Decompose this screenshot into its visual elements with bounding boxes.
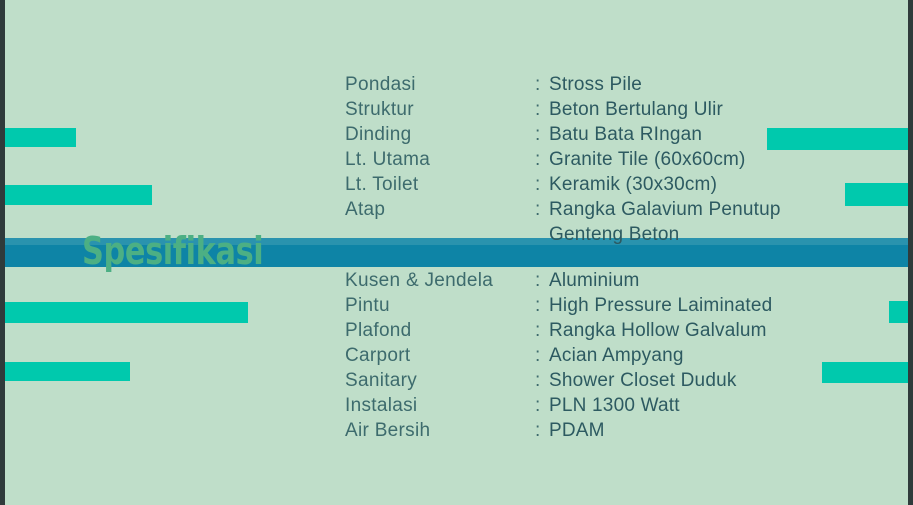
spec-label: Struktur <box>345 97 535 122</box>
spec-label: Lt. Utama <box>345 147 535 172</box>
spec-label: Instalasi <box>345 393 535 418</box>
spec-label: Air Bersih <box>345 418 535 443</box>
spec-value: High Pressure Laiminated <box>549 293 772 318</box>
bar-right-upper-1 <box>767 128 913 150</box>
spec-value: Stross Pile <box>549 72 642 97</box>
spec-row: Genteng Beton <box>345 222 781 247</box>
bar-left-lower-1 <box>0 302 248 323</box>
spec-label: Kusen & Jendela <box>345 268 535 293</box>
spec-value: Batu Bata RIngan <box>549 122 702 147</box>
frame-edge-right <box>908 0 913 505</box>
spec-value: Acian Ampyang <box>549 343 684 368</box>
spec-label: Lt. Toilet <box>345 172 535 197</box>
spec-row: Lt. Utama:Granite Tile (60x60cm) <box>345 147 781 172</box>
spec-row: Atap:Rangka Galavium Penutup <box>345 197 781 222</box>
spec-label: Pintu <box>345 293 535 318</box>
spec-label: Carport <box>345 343 535 368</box>
spec-value: Keramik (30x30cm) <box>549 172 717 197</box>
specification-list-lower: Kusen & Jendela:AluminiumPintu:High Pres… <box>345 268 772 443</box>
spec-row: Sanitary:Shower Closet Duduk <box>345 368 772 393</box>
specification-list-upper: Pondasi:Stross PileStruktur:Beton Bertul… <box>345 72 781 247</box>
spec-row: Air Bersih:PDAM <box>345 418 772 443</box>
spec-value: Shower Closet Duduk <box>549 368 737 393</box>
spec-separator: : <box>535 343 549 368</box>
spec-row: Pondasi:Stross Pile <box>345 72 781 97</box>
spec-label: Atap <box>345 197 535 222</box>
spec-separator: : <box>535 72 549 97</box>
spec-separator: : <box>535 147 549 172</box>
spec-separator: : <box>535 393 549 418</box>
bar-left-lower-2 <box>0 362 130 381</box>
spec-separator: : <box>535 368 549 393</box>
spec-row: Struktur:Beton Bertulang Ulir <box>345 97 781 122</box>
spec-label: Sanitary <box>345 368 535 393</box>
spec-row: Dinding:Batu Bata RIngan <box>345 122 781 147</box>
spec-row: Plafond:Rangka Hollow Galvalum <box>345 318 772 343</box>
spec-row: Lt. Toilet:Keramik (30x30cm) <box>345 172 781 197</box>
spec-separator: : <box>535 268 549 293</box>
spec-label: Pondasi <box>345 72 535 97</box>
spec-separator: : <box>535 318 549 343</box>
spec-separator: : <box>535 172 549 197</box>
spec-separator: : <box>535 197 549 222</box>
page-title: Spesifikasi <box>82 228 263 274</box>
bar-left-upper-2 <box>0 185 152 205</box>
spec-separator: : <box>535 293 549 318</box>
spec-label: Plafond <box>345 318 535 343</box>
spec-row: Carport:Acian Ampyang <box>345 343 772 368</box>
spec-row: Kusen & Jendela:Aluminium <box>345 268 772 293</box>
spec-separator: : <box>535 122 549 147</box>
spec-value: PLN 1300 Watt <box>549 393 680 418</box>
spec-value: Beton Bertulang Ulir <box>549 97 723 122</box>
bar-right-lower-2 <box>822 362 913 383</box>
spec-value: PDAM <box>549 418 605 443</box>
spec-label: Dinding <box>345 122 535 147</box>
spec-row: Instalasi:PLN 1300 Watt <box>345 393 772 418</box>
spec-value: Genteng Beton <box>549 222 679 247</box>
spec-value: Rangka Hollow Galvalum <box>549 318 767 343</box>
spec-row: Pintu:High Pressure Laiminated <box>345 293 772 318</box>
spec-separator: : <box>535 418 549 443</box>
spec-separator: : <box>535 97 549 122</box>
slide-canvas: Spesifikasi Pondasi:Stross PileStruktur:… <box>0 0 913 505</box>
bar-left-upper-1 <box>0 128 76 147</box>
bar-right-upper-2 <box>845 183 913 206</box>
spec-value: Aluminium <box>549 268 640 293</box>
spec-value: Rangka Galavium Penutup <box>549 197 781 222</box>
frame-edge-left <box>0 0 5 505</box>
spec-value: Granite Tile (60x60cm) <box>549 147 746 172</box>
